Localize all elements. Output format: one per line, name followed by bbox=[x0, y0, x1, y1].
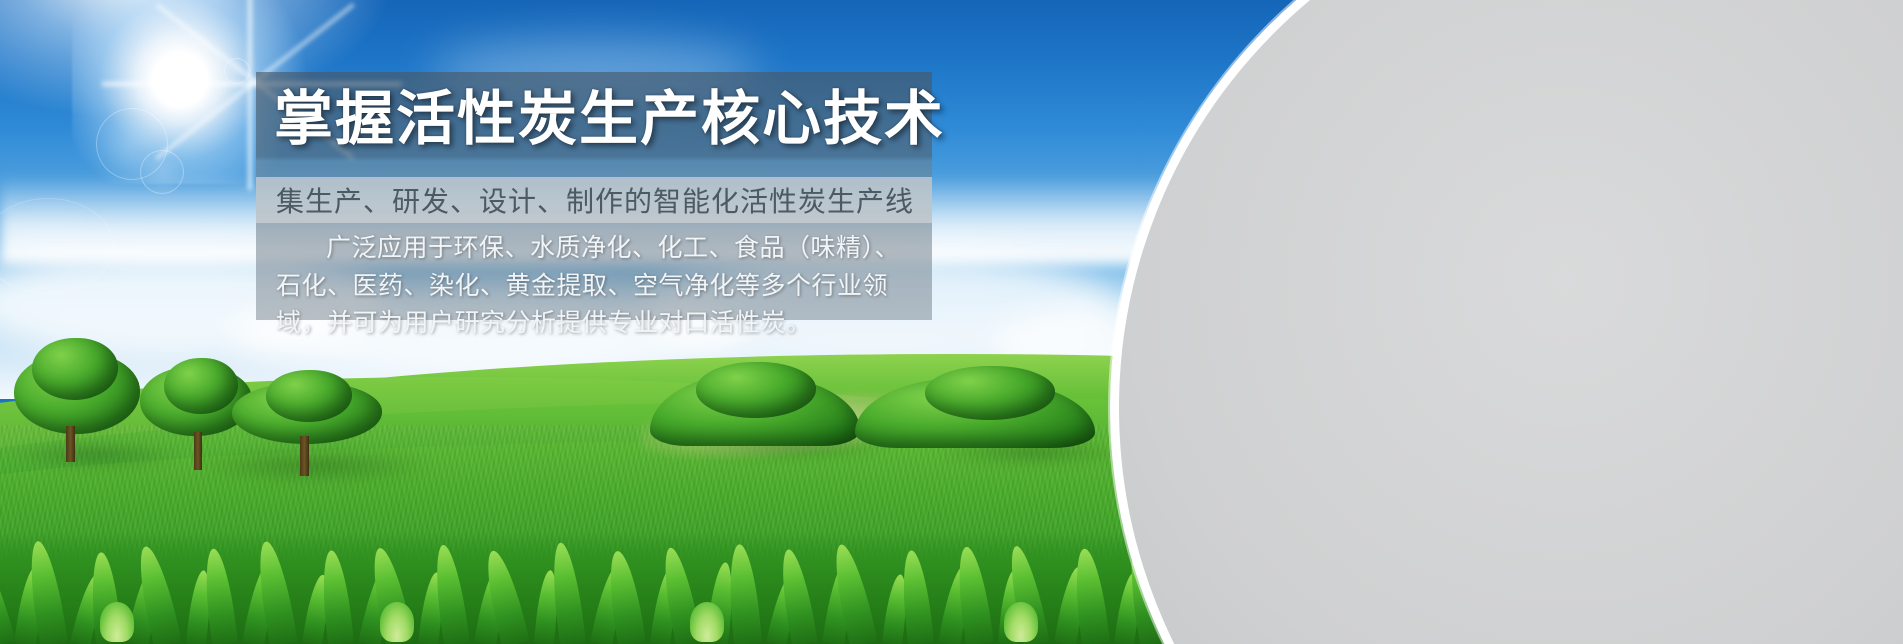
page-subtitle: 集生产、研发、设计、制作的智能化活性炭生产线 bbox=[276, 180, 914, 220]
sun-ray-vertical bbox=[248, 0, 252, 190]
description-paragraph: 广泛应用于环保、水质净化、化工、食品（味精）、石化、医药、染化、黄金提取、空气净… bbox=[276, 230, 914, 343]
tree-cluster bbox=[855, 372, 1095, 456]
subtitle-band: 集生产、研发、设计、制作的智能化活性炭生产线 bbox=[256, 177, 932, 223]
product-circle-panel: 活性强 吸附快 纯度高 耐防水 bbox=[1110, 0, 1903, 644]
hero-banner: 掌握活性炭生产核心技术 集生产、研发、设计、制作的智能化活性炭生产线 广泛应用于… bbox=[0, 0, 1903, 644]
tree bbox=[14, 352, 144, 460]
page-title: 掌握活性炭生产核心技术 bbox=[274, 78, 932, 162]
tree-cluster bbox=[650, 368, 860, 456]
lens-flare-icon bbox=[224, 58, 250, 84]
tree bbox=[232, 382, 382, 478]
product-stage bbox=[1119, 0, 1903, 644]
headline-panel: 掌握活性炭生产核心技术 集生产、研发、设计、制作的智能化活性炭生产线 广泛应用于… bbox=[256, 72, 932, 320]
